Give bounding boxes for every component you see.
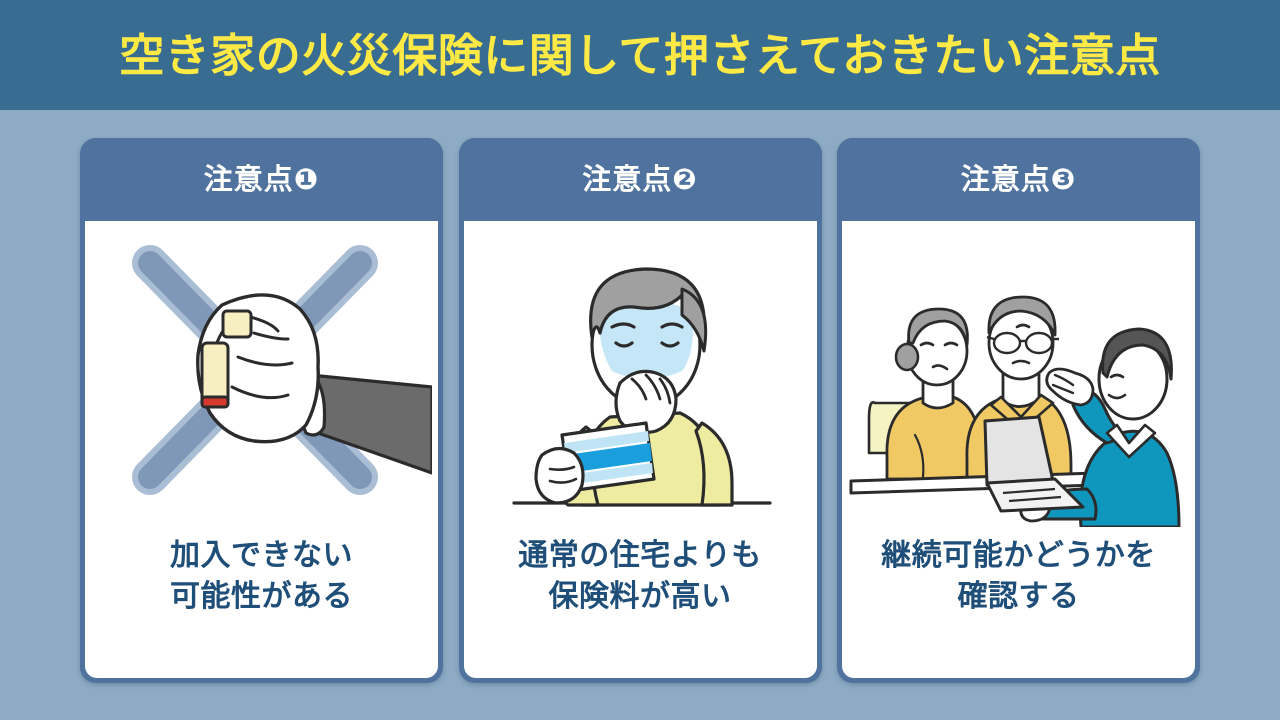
worried-woman-looking-at-bill-icon bbox=[470, 227, 810, 527]
card-3-header-label: 注意点❸ bbox=[961, 165, 1077, 194]
card-1-header: 注意点❶ bbox=[80, 138, 443, 221]
card-1-caption: 加入できない 可能性がある bbox=[85, 527, 438, 678]
card-2-header: 注意点❷ bbox=[459, 138, 822, 221]
card-3-caption-line-1: 継続可能かどうかを bbox=[881, 535, 1156, 576]
card-3-body: 継続可能かどうかを 確認する bbox=[842, 221, 1195, 678]
card-2-caption-line-1: 通常の住宅よりも bbox=[518, 535, 761, 576]
page-title: 空き家の火災保険に関して押さえておきたい注意点 bbox=[119, 33, 1161, 78]
infographic-page: 空き家の火災保険に関して押さえておきたい注意点 注意点❶ bbox=[0, 0, 1280, 720]
header-banner: 空き家の火災保険に関して押さえておきたい注意点 bbox=[0, 0, 1280, 110]
card-2-body: 通常の住宅よりも 保険料が高い bbox=[464, 221, 817, 678]
elderly-couple-consulting-advisor-icon bbox=[849, 227, 1189, 527]
card-1-body: 加入できない 可能性がある bbox=[85, 221, 438, 678]
cards-row: 注意点❶ bbox=[80, 138, 1200, 683]
card-3-caption-line-2: 確認する bbox=[881, 576, 1156, 617]
card-3-caption: 継続可能かどうかを 確認する bbox=[842, 527, 1195, 678]
card-1-header-label: 注意点❶ bbox=[204, 165, 320, 194]
card-caution-3[interactable]: 注意点❸ bbox=[837, 138, 1200, 683]
card-3-header: 注意点❸ bbox=[837, 138, 1200, 221]
card-1-caption-line-1: 加入できない bbox=[170, 535, 353, 576]
card-caution-1[interactable]: 注意点❶ bbox=[80, 138, 443, 683]
card-2-caption: 通常の住宅よりも 保険料が高い bbox=[464, 527, 817, 678]
card-2-header-label: 注意点❷ bbox=[582, 165, 698, 194]
card-caution-2[interactable]: 注意点❷ bbox=[459, 138, 822, 683]
card-1-caption-line-2: 可能性がある bbox=[170, 576, 353, 617]
card-2-caption-line-2: 保険料が高い bbox=[518, 576, 761, 617]
hand-with-stamp-over-cross-mark-icon bbox=[92, 227, 432, 527]
